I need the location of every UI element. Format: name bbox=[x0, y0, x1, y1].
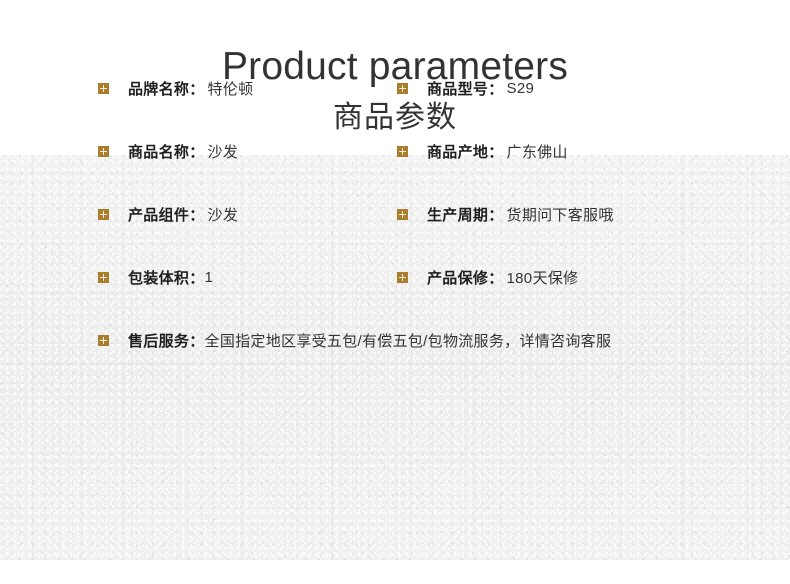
param-value: 货期问下客服哦 bbox=[507, 204, 614, 225]
plus-square-marker-icon bbox=[397, 272, 408, 283]
param-value: 沙发 bbox=[208, 204, 239, 225]
parameters-list: 品牌名称： 特伦顿 商品名称： 沙发 产品组件： 沙发 包装体积： 1 商品型号… bbox=[0, 0, 790, 405]
param-label: 商品名称： bbox=[128, 141, 205, 162]
param-label: 包装体积： bbox=[128, 267, 205, 288]
param-row-product-components: 产品组件： 沙发 bbox=[98, 204, 238, 225]
param-row-brand-name: 品牌名称： 特伦顿 bbox=[98, 78, 253, 99]
param-row-warranty: 产品保修： 180天保修 bbox=[397, 267, 578, 288]
param-row-package-volume: 包装体积： 1 bbox=[98, 267, 213, 288]
plus-square-marker-icon bbox=[397, 146, 408, 157]
param-value: 沙发 bbox=[208, 141, 239, 162]
param-label: 品牌名称： bbox=[128, 78, 205, 99]
param-value: 全国指定地区享受五包/有偿五包/包物流服务，详情咨询客服 bbox=[205, 330, 612, 351]
plus-square-marker-icon bbox=[98, 272, 109, 283]
plus-square-marker-icon bbox=[397, 209, 408, 220]
param-row-after-sales-service: 售后服务： 全国指定地区享受五包/有偿五包/包物流服务，详情咨询客服 bbox=[98, 330, 611, 351]
param-value: S29 bbox=[507, 80, 535, 97]
param-label: 生产周期： bbox=[427, 204, 504, 225]
param-label: 商品型号： bbox=[427, 78, 504, 99]
plus-square-marker-icon bbox=[397, 83, 408, 94]
plus-square-marker-icon bbox=[98, 209, 109, 220]
param-value: 特伦顿 bbox=[208, 78, 254, 99]
param-value: 1 bbox=[205, 269, 214, 286]
plus-square-marker-icon bbox=[98, 83, 109, 94]
param-row-product-name: 商品名称： 沙发 bbox=[98, 141, 238, 162]
param-label: 产品组件： bbox=[128, 204, 205, 225]
param-row-product-model: 商品型号： S29 bbox=[397, 78, 534, 99]
param-label: 商品产地： bbox=[427, 141, 504, 162]
param-row-origin: 商品产地： 广东佛山 bbox=[397, 141, 568, 162]
plus-square-marker-icon bbox=[98, 146, 109, 157]
param-row-production-cycle: 生产周期： 货期问下客服哦 bbox=[397, 204, 614, 225]
param-value: 180天保修 bbox=[507, 267, 579, 288]
product-parameters-page: Product parameters 商品参数 品牌名称： 特伦顿 商品名称： … bbox=[0, 0, 790, 584]
plus-square-marker-icon bbox=[98, 335, 109, 346]
param-label: 产品保修： bbox=[427, 267, 504, 288]
param-label: 售后服务： bbox=[128, 330, 205, 351]
param-value: 广东佛山 bbox=[507, 141, 568, 162]
